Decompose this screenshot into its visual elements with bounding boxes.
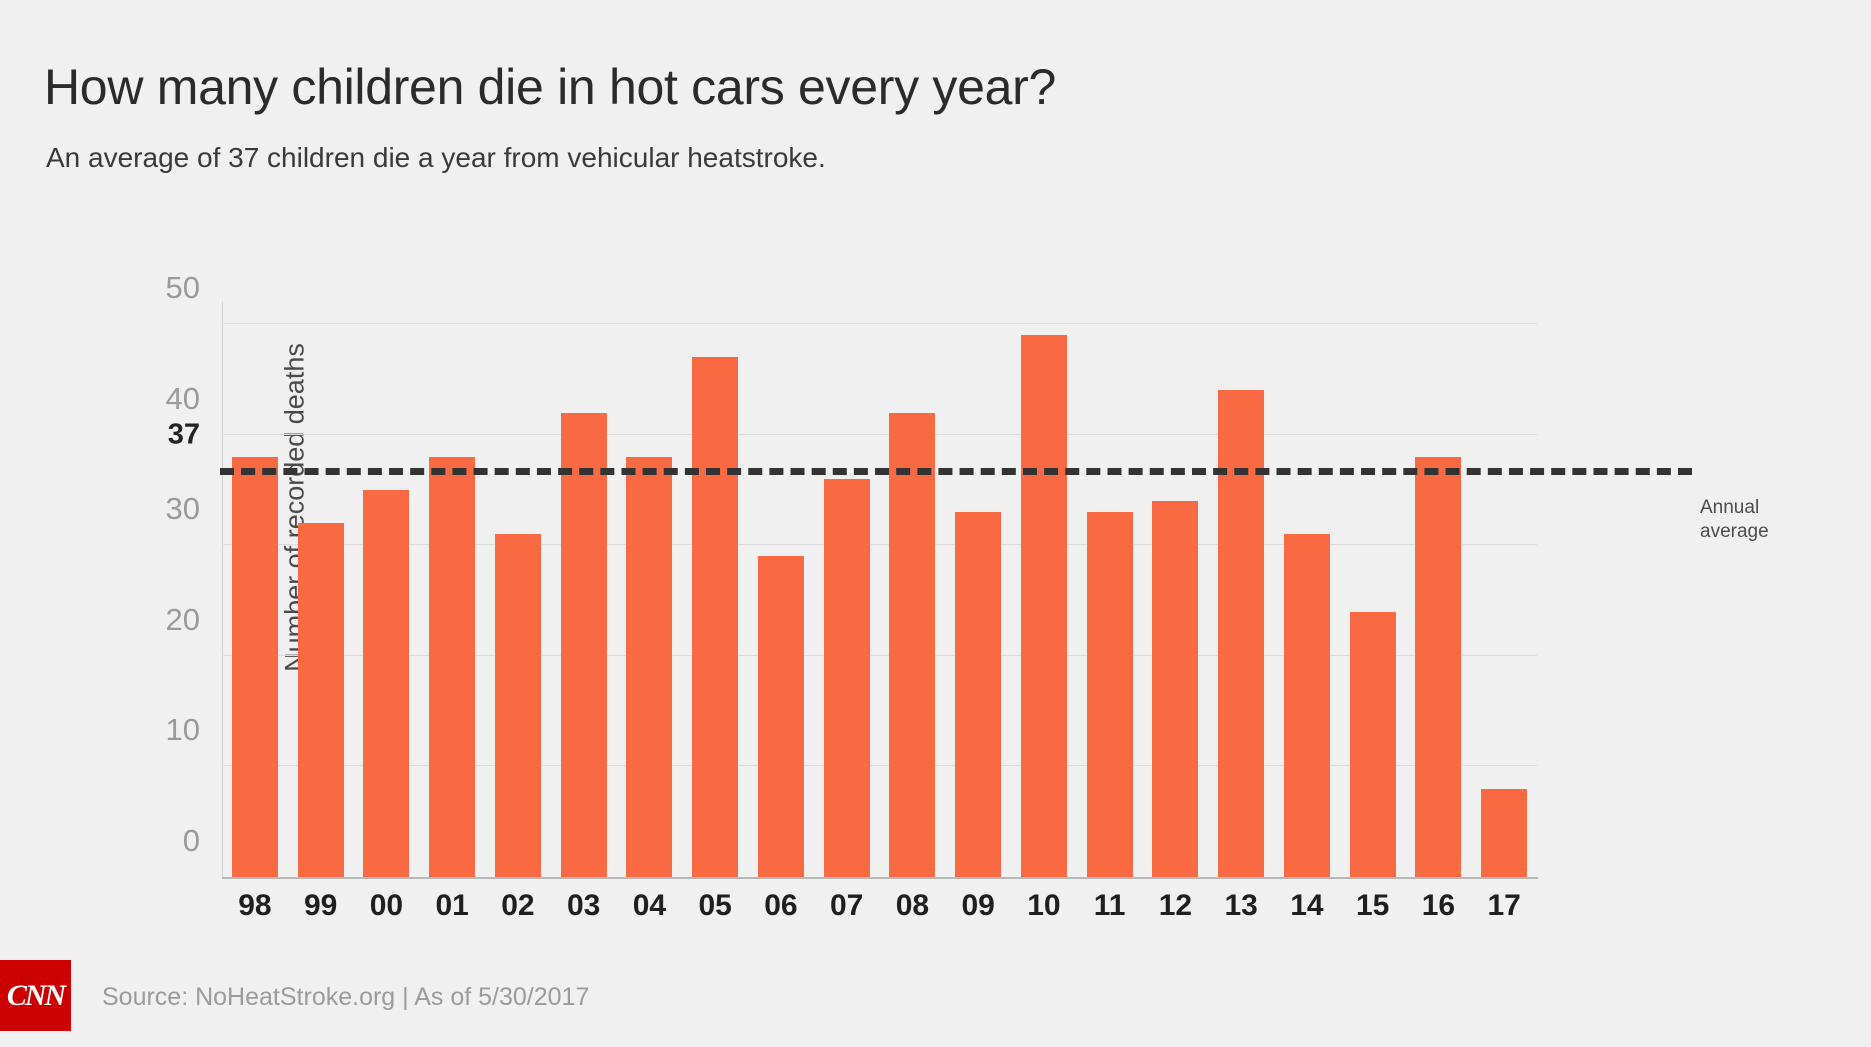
x-tick-label: 09	[945, 889, 1011, 923]
bar[interactable]	[1350, 612, 1396, 877]
y-tick-label: 0	[183, 823, 200, 859]
bar[interactable]	[692, 357, 738, 877]
annual-average-annotation: Annual average	[1700, 496, 1769, 544]
y-tick-label-emphasis: 37	[168, 418, 200, 451]
x-tick-label: 07	[814, 889, 880, 923]
x-tick-label: 03	[551, 889, 617, 923]
x-tick-label: 04	[617, 889, 683, 923]
bar[interactable]	[232, 457, 278, 877]
x-tick-label: 10	[1011, 889, 1077, 923]
bar[interactable]	[824, 479, 870, 877]
y-tick-label: 10	[166, 712, 200, 748]
bar[interactable]	[363, 490, 409, 877]
bar[interactable]	[758, 556, 804, 877]
x-tick-label: 01	[419, 889, 485, 923]
cnn-logo-text: CNN	[7, 979, 64, 1013]
page-title: How many children die in hot cars every …	[44, 58, 1056, 116]
bar[interactable]	[955, 512, 1001, 877]
gridline	[222, 765, 1537, 766]
annual-average-reference-line	[220, 468, 1692, 475]
gridline	[222, 655, 1537, 656]
bar[interactable]	[1218, 390, 1264, 877]
gridline	[222, 434, 1537, 435]
x-tick-label: 17	[1471, 889, 1537, 923]
x-tick-label: 02	[485, 889, 551, 923]
y-tick-label: 50	[166, 270, 200, 306]
bar[interactable]	[429, 457, 475, 877]
bar[interactable]	[495, 534, 541, 877]
plot-area: Number of recorded deaths 0102030405037 …	[222, 302, 1537, 877]
x-tick-label: 14	[1274, 889, 1340, 923]
chart-subtitle: An average of 37 children die a year fro…	[46, 142, 826, 174]
x-tick-label: 05	[682, 889, 748, 923]
bar[interactable]	[1284, 534, 1330, 877]
x-tick-label: 99	[288, 889, 354, 923]
gridline	[222, 323, 1537, 324]
x-tick-label: 13	[1208, 889, 1274, 923]
bar[interactable]	[626, 457, 672, 877]
x-tick-label: 98	[222, 889, 288, 923]
bar[interactable]	[298, 523, 344, 877]
bar[interactable]	[1021, 335, 1067, 877]
x-tick-label: 12	[1143, 889, 1209, 923]
x-tick-label: 11	[1077, 889, 1143, 923]
y-tick-label: 20	[166, 602, 200, 638]
x-tick-label: 06	[748, 889, 814, 923]
bar[interactable]	[889, 413, 935, 877]
x-tick-label: 00	[354, 889, 420, 923]
footer: CNN Source: NoHeatStroke.org | As of 5/3…	[0, 955, 1871, 1047]
bar[interactable]	[1415, 457, 1461, 877]
x-tick-label: 15	[1340, 889, 1406, 923]
annual-average-label-line2: average	[1700, 520, 1769, 544]
bar[interactable]	[561, 413, 607, 877]
gridline	[222, 544, 1537, 545]
bar[interactable]	[1481, 789, 1527, 877]
cnn-logo: CNN	[0, 960, 71, 1031]
bar[interactable]	[1152, 501, 1198, 877]
gridline	[222, 876, 1537, 877]
annual-average-label-line1: Annual	[1700, 496, 1769, 520]
y-tick-label: 40	[166, 381, 200, 417]
x-tick-label: 08	[880, 889, 946, 923]
chart-canvas: How many children die in hot cars every …	[0, 0, 1871, 1047]
source-credit: Source: NoHeatStroke.org | As of 5/30/20…	[102, 983, 589, 1012]
y-tick-label: 30	[166, 491, 200, 527]
x-axis-spine	[222, 877, 1538, 879]
x-tick-label: 16	[1406, 889, 1472, 923]
bar[interactable]	[1087, 512, 1133, 877]
